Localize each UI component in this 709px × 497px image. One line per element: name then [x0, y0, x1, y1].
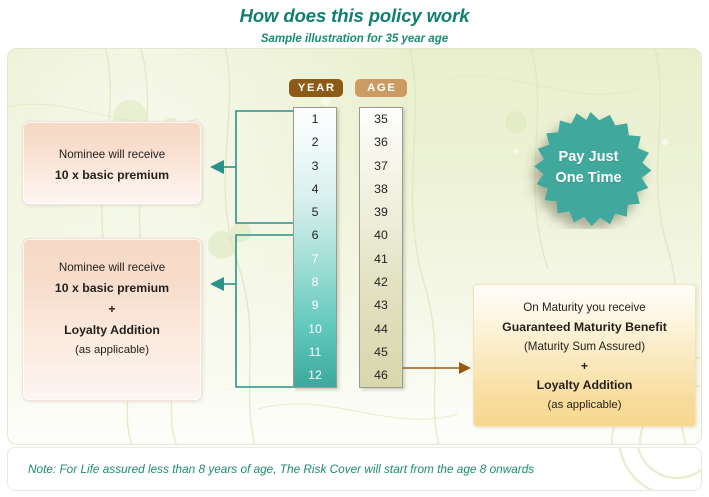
maturity-line-3: (Maturity Sum Assured)	[474, 337, 695, 357]
maturity-arrow	[403, 360, 471, 376]
box2-line-1: Nominee will receive	[23, 258, 201, 278]
box1-line-2: 10 x basic premium	[23, 165, 201, 185]
year-cell: 10	[294, 318, 336, 341]
year-cell: 5	[294, 201, 336, 224]
diagram-panel: Nominee will receive 10 x basic premium …	[7, 48, 702, 445]
note-decoration	[581, 448, 701, 491]
year-cell: 2	[294, 131, 336, 154]
age-cell: 36	[360, 131, 402, 154]
note-text: Note: For Life assured less than 8 years…	[28, 462, 534, 476]
year-cell: 1	[294, 108, 336, 131]
maturity-line-1: On Maturity you receive	[474, 298, 695, 318]
maturity-line-4: +	[474, 357, 695, 377]
age-column: 35 36 37 38 39 40 41 42 43 44 45 46	[359, 107, 403, 388]
pay-just-one-time-badge: Pay Just One Time	[521, 107, 656, 229]
maturity-line-5: Loyalty Addition	[474, 376, 695, 396]
age-cell: 39	[360, 201, 402, 224]
year-column: 1 2 3 4 5 6 7 8 9 10 11 12	[293, 107, 337, 388]
page-title: How does this policy work	[0, 5, 709, 27]
age-cell: 43	[360, 294, 402, 317]
bracket-connectors	[204, 107, 296, 392]
nominee-benefit-box-years-6-12: Nominee will receive 10 x basic premium …	[22, 238, 202, 401]
year-cell: 7	[294, 248, 336, 271]
box2-line-4: Loyalty Addition	[23, 320, 201, 340]
age-cell: 41	[360, 248, 402, 271]
note-bar: Note: For Life assured less than 8 years…	[7, 447, 702, 491]
arrowhead-right	[459, 362, 471, 374]
maturity-line-2: Guaranteed Maturity Benefit	[474, 318, 695, 338]
age-cell: 42	[360, 271, 402, 294]
age-cell: 40	[360, 224, 402, 247]
box2-line-3: +	[23, 298, 201, 320]
year-cell: 11	[294, 341, 336, 364]
maturity-benefit-box: On Maturity you receive Guaranteed Matur…	[473, 284, 696, 427]
arrowhead-left-upper	[210, 160, 224, 174]
year-cell: 9	[294, 294, 336, 317]
age-cell: 44	[360, 318, 402, 341]
age-cell: 37	[360, 155, 402, 178]
box2-line-5: (as applicable)	[23, 340, 201, 360]
box2-line-2: 10 x basic premium	[23, 278, 201, 298]
box1-line-1: Nominee will receive	[23, 145, 201, 165]
starburst-line-2: One Time	[555, 168, 621, 189]
starburst-label: Pay Just One Time	[521, 107, 656, 229]
age-column-header-badge: AGE	[355, 79, 407, 97]
nominee-benefit-box-years-1-5: Nominee will receive 10 x basic premium	[22, 121, 202, 205]
age-cell: 38	[360, 178, 402, 201]
page-header: How does this policy work Sample illustr…	[0, 0, 709, 48]
starburst-line-1: Pay Just	[558, 147, 618, 168]
year-column-header-badge: YEAR	[289, 79, 343, 97]
year-cell: 12	[294, 364, 336, 387]
maturity-line-6: (as applicable)	[474, 396, 695, 416]
age-cell: 45	[360, 341, 402, 364]
age-cell: 35	[360, 108, 402, 131]
arrowhead-left-lower	[210, 277, 224, 291]
year-cell: 8	[294, 271, 336, 294]
year-cell: 3	[294, 155, 336, 178]
age-cell: 46	[360, 364, 402, 387]
year-cell: 6	[294, 224, 336, 247]
page-subtitle: Sample illustration for 35 year age	[0, 33, 709, 45]
year-cell: 4	[294, 178, 336, 201]
